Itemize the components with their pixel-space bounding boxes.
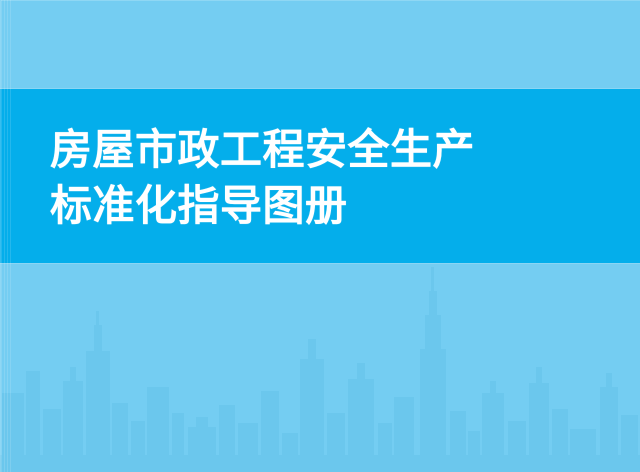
edge-artifact-stripe [7, 0, 8, 472]
cover-title-line-2: 标准化指导图册 [50, 178, 590, 234]
cover-title-block: 房屋市政工程安全生产 标准化指导图册 [50, 122, 590, 234]
cover-title-line-1: 房屋市政工程安全生产 [50, 122, 590, 178]
document-cover: 房屋市政工程安全生产 标准化指导图册 [0, 0, 640, 472]
top-light-band [0, 0, 640, 89]
edge-artifact-stripe [1, 0, 2, 472]
city-skyline-silhouette [0, 263, 640, 472]
edge-artifact-stripe [4, 0, 5, 472]
edge-artifact-stripe [10, 0, 11, 472]
band-seam-upper [0, 88, 640, 89]
